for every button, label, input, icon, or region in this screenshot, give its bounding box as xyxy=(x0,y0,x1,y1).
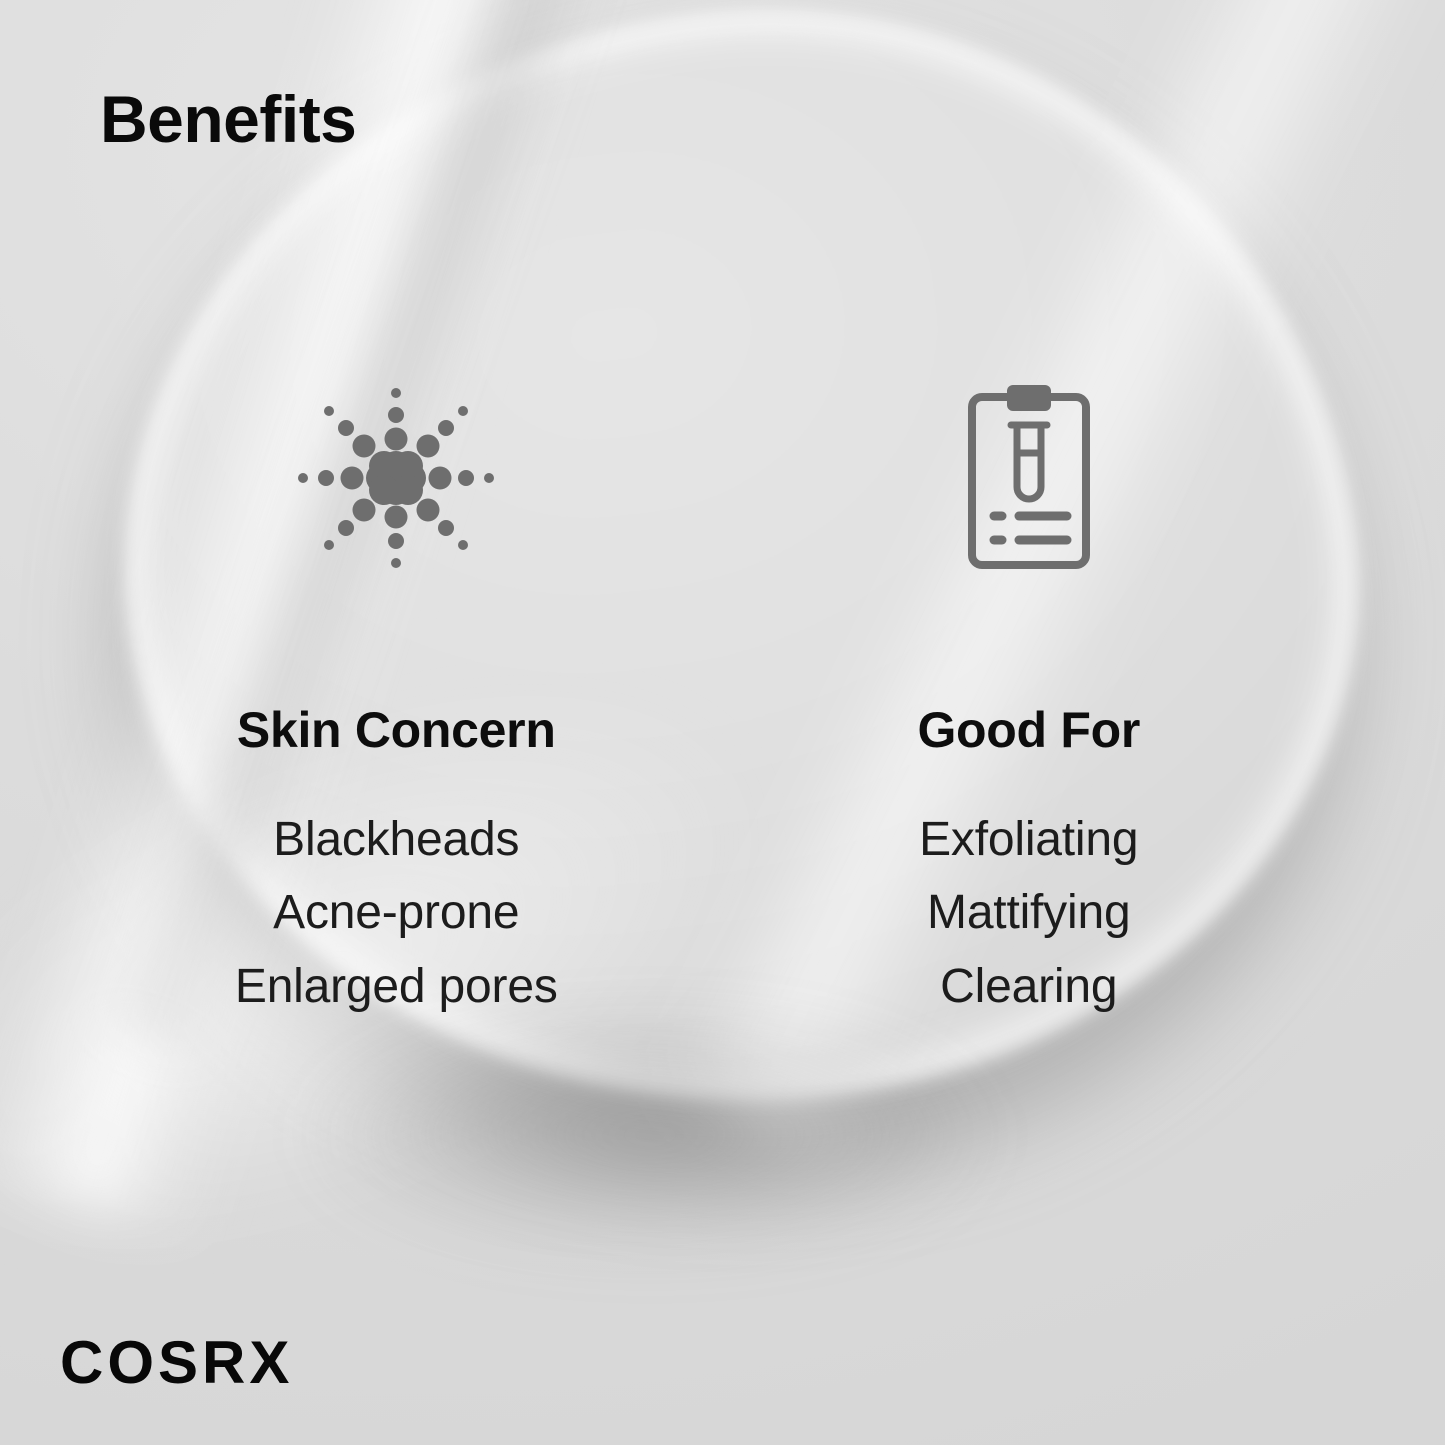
benefits-columns: Skin Concern Blackheads Acne-prone Enlar… xyxy=(0,370,1445,1023)
column-heading: Skin Concern xyxy=(237,705,556,755)
list-item: Acne-prone xyxy=(235,876,558,949)
benefit-list: Exfoliating Mattifying Clearing xyxy=(919,803,1138,1023)
list-item: Exfoliating xyxy=(919,803,1138,876)
list-item: Mattifying xyxy=(919,876,1138,949)
column-heading: Good For xyxy=(917,705,1140,755)
list-item: Enlarged pores xyxy=(235,950,558,1023)
benefit-column-skin-concern: Skin Concern Blackheads Acne-prone Enlar… xyxy=(0,370,723,1023)
clipboard-test-tube-icon xyxy=(964,370,1094,585)
list-item: Blackheads xyxy=(235,803,558,876)
brand-logo: COSRX xyxy=(60,1333,293,1393)
benefit-column-good-for: Good For Exfoliating Mattifying Clearing xyxy=(723,370,1445,1023)
page-title: Benefits xyxy=(100,86,356,152)
benefit-list: Blackheads Acne-prone Enlarged pores xyxy=(235,803,558,1023)
starburst-dots-icon xyxy=(291,370,501,585)
list-item: Clearing xyxy=(919,950,1138,1023)
product-benefits-card: Benefits xyxy=(0,0,1445,1445)
